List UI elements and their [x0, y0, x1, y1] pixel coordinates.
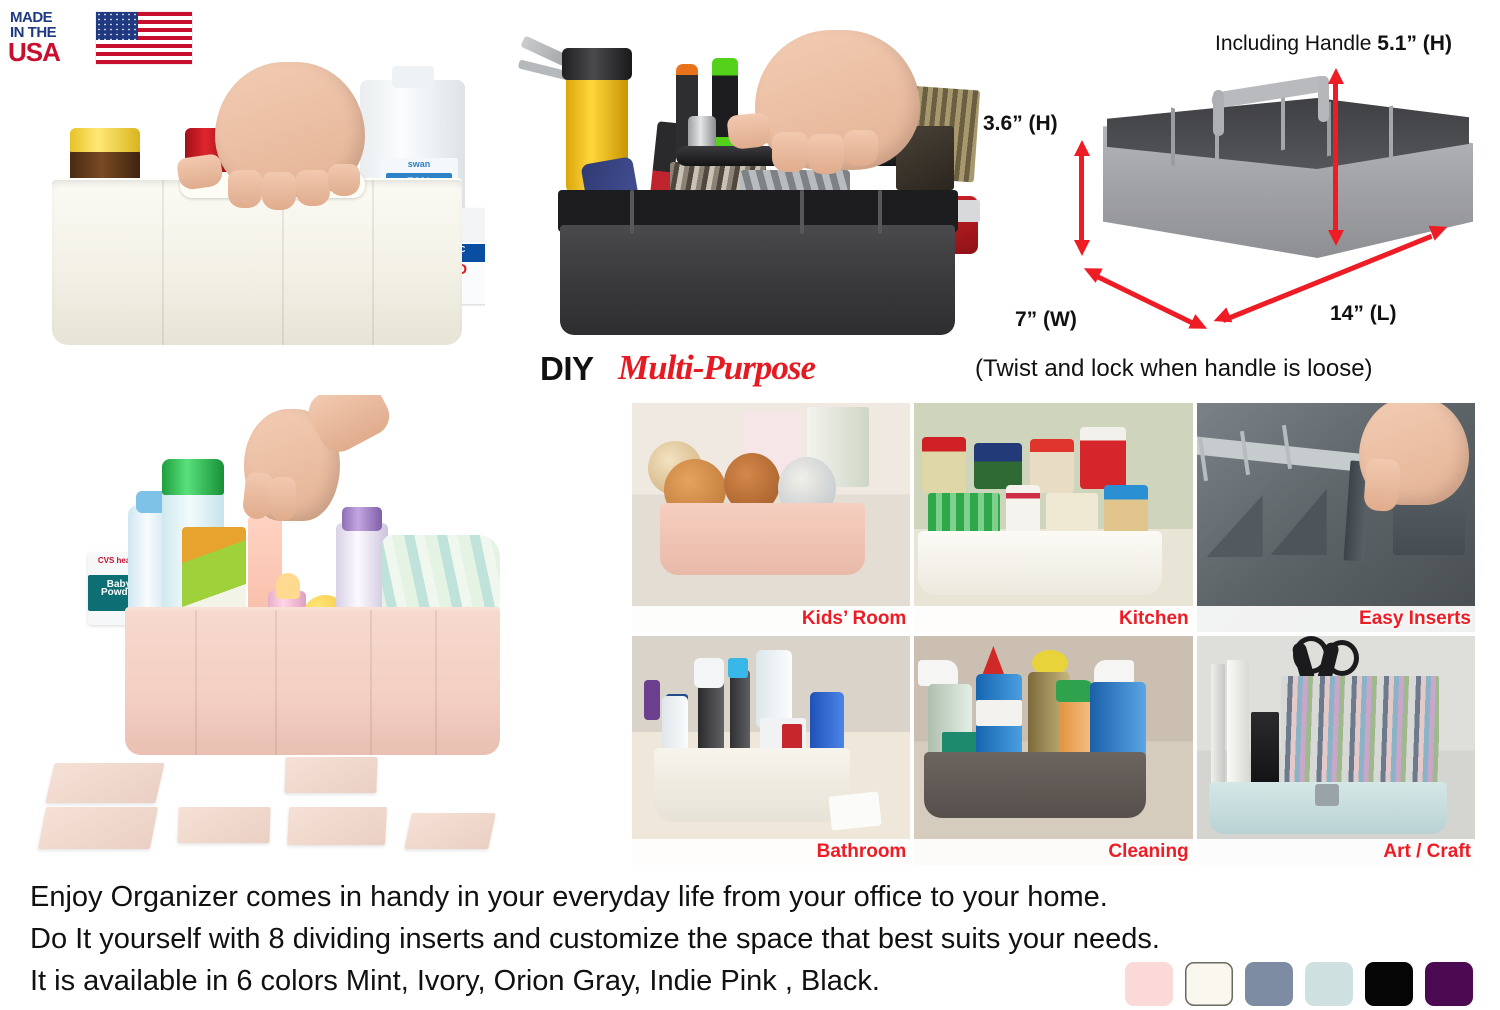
label-including-handle: Including Handle 5.1” (H)	[1215, 32, 1452, 56]
finger	[328, 164, 360, 196]
finger	[262, 172, 296, 210]
toothbrush-dark	[730, 670, 750, 754]
notebook-black	[1251, 712, 1279, 790]
color-swatch-purple[interactable]	[1425, 962, 1473, 1006]
spray-trigger	[918, 660, 958, 686]
handle-post-left	[1213, 90, 1224, 136]
marketing-line-1: Enjoy Organizer comes in handy in your e…	[30, 878, 1110, 916]
photo-pink-organizer: CVS health Baby Powder	[30, 395, 605, 865]
loose-insert	[177, 807, 270, 843]
length-arrow-head-left	[1211, 307, 1233, 328]
marketing-copy-block: Enjoy Organizer comes in handy in your e…	[30, 878, 1110, 1004]
finger	[726, 112, 771, 150]
loose-insert	[287, 807, 387, 845]
finger	[228, 170, 262, 208]
finger	[772, 132, 808, 172]
scissors-handle	[1293, 636, 1329, 674]
diy-label: DIY	[540, 350, 594, 388]
box-blue	[974, 443, 1022, 489]
marker-pens	[1281, 676, 1439, 788]
use-case-label-cleaning: Cleaning	[1108, 841, 1188, 863]
kitchen-tray	[918, 531, 1162, 595]
flashlight-head	[562, 48, 632, 80]
dimension-diagram: Including Handle 5.1” (H) 3.6” (H) 7” (W…	[975, 20, 1495, 360]
soap-pump	[662, 696, 688, 754]
multi-purpose-label: Multi-Purpose	[618, 348, 815, 388]
use-case-label-kitchen: Kitchen	[1119, 608, 1189, 630]
toothbrush-head	[694, 658, 724, 688]
tray-divider	[1171, 107, 1175, 166]
made-in-usa-text: MADE IN THE USA	[8, 8, 94, 66]
spray-trigger-green	[1056, 680, 1094, 702]
clorox-label	[976, 700, 1022, 726]
bottle-purple	[644, 680, 660, 720]
green-canister-cap	[162, 459, 224, 495]
including-handle-value: 5.1” (H)	[1377, 32, 1452, 55]
use-case-label-kids-room: Kids’ Room	[802, 608, 907, 630]
loose-insert	[828, 791, 881, 830]
color-swatch-black[interactable]	[1365, 962, 1413, 1006]
loose-insert	[404, 813, 496, 849]
purple-bottle-cap	[342, 507, 382, 531]
sketchbook	[1211, 664, 1225, 790]
tray-divider	[1389, 106, 1393, 159]
dark-tray-divider	[630, 190, 634, 234]
finger	[296, 170, 330, 206]
use-case-kitchen[interactable]: Kitchen	[914, 403, 1192, 632]
label-width: 7” (W)	[1015, 308, 1077, 332]
toothbrush-bristles	[728, 658, 748, 678]
jar-red-lid	[922, 437, 966, 493]
loose-insert	[38, 807, 158, 849]
dark-tray-divider	[878, 190, 882, 234]
ivory-tray-body	[52, 180, 462, 345]
ivory-scene: Nature Made swan 70% BAND-AID FLEXIBLE F…	[30, 60, 485, 350]
loose-insert	[45, 763, 164, 803]
use-case-cleaning[interactable]: Cleaning	[914, 636, 1192, 865]
jar-blue-lid	[1104, 485, 1148, 537]
photo-tool-caddy	[500, 30, 990, 350]
pink-scene: CVS health Baby Powder	[30, 395, 605, 865]
use-case-grid: Kids’ Room Kitchen	[632, 403, 1475, 865]
notebook-white	[1227, 660, 1249, 790]
color-swatch-ivory[interactable]	[1185, 962, 1233, 1006]
finger	[1363, 458, 1401, 512]
pink-tray-body	[125, 610, 500, 755]
diy-headline-row: DIY Multi-Purpose (Twist and lock when h…	[540, 348, 1480, 394]
scissors-handle	[1325, 640, 1359, 676]
flag-canton-stars-icon	[96, 12, 138, 40]
marketing-line-3: It is available in 6 colors Mint, Ivory,…	[30, 962, 1110, 1000]
tray-divider	[1281, 96, 1285, 151]
cleaning-tray	[924, 752, 1146, 818]
height-arrow-shaft	[1079, 152, 1084, 244]
height-arrow-head-down	[1074, 240, 1090, 256]
twist-lock-note: (Twist and lock when handle is loose)	[975, 354, 1373, 384]
tray-handle-latch	[1315, 784, 1339, 806]
bathroom-tray	[654, 748, 850, 822]
color-swatch-mint[interactable]	[1305, 962, 1353, 1006]
canister-red	[1080, 427, 1126, 489]
finger	[808, 134, 844, 174]
handle-height-arrow-head-down	[1328, 230, 1344, 246]
use-case-label-bathroom: Bathroom	[817, 841, 907, 863]
dark-tray-divider	[800, 190, 804, 234]
handle-height-arrow-head-up	[1328, 68, 1344, 84]
alcohol-jug-cap	[392, 66, 434, 88]
baby-bottle-nipple	[276, 573, 300, 599]
use-case-easy-inserts[interactable]: Easy Inserts	[1197, 403, 1475, 632]
soap-dispenser-blue	[810, 692, 844, 752]
loose-insert	[284, 757, 377, 793]
dark-tray-body	[560, 225, 955, 335]
finger	[270, 477, 296, 521]
use-case-art-craft[interactable]: Art / Craft	[1197, 636, 1475, 865]
width-arrow-head-right	[1188, 314, 1210, 336]
supplement-bottle-cap	[70, 128, 140, 152]
handle-height-arrow-shaft	[1333, 82, 1338, 234]
tools-scene	[500, 30, 990, 350]
photo-ivory-organizer: Nature Made swan 70% BAND-AID FLEXIBLE F…	[30, 60, 485, 350]
marketing-line-2: Do It yourself with 8 dividing inserts a…	[30, 920, 1110, 958]
use-case-label-easy-inserts: Easy Inserts	[1359, 608, 1471, 630]
use-case-kids-room[interactable]: Kids’ Room	[632, 403, 910, 632]
color-swatch-row	[1125, 962, 1473, 1006]
use-case-label-art-craft: Art / Craft	[1383, 841, 1471, 863]
color-swatch-indie-pink[interactable]	[1125, 962, 1173, 1006]
kids-room-tray	[660, 503, 865, 575]
including-handle-prefix: Including Handle	[1215, 32, 1377, 55]
color-swatch-orion-gray[interactable]	[1245, 962, 1293, 1006]
finger	[844, 130, 878, 166]
use-case-bathroom[interactable]: Bathroom	[632, 636, 910, 865]
alcohol-brand-label: swan	[380, 160, 458, 168]
infographic-canvas: MADE IN THE USA Nature Made	[0, 0, 1500, 1010]
badge-line-1: MADE	[10, 10, 52, 25]
made-in-usa-badge: MADE IN THE USA	[8, 8, 196, 66]
width-arrow-shaft	[1092, 272, 1198, 327]
label-length: 14” (L)	[1330, 302, 1397, 326]
mouthwash-bottle	[756, 650, 792, 728]
height-arrow-head-up	[1074, 140, 1090, 156]
label-height: 3.6” (H)	[983, 112, 1058, 136]
